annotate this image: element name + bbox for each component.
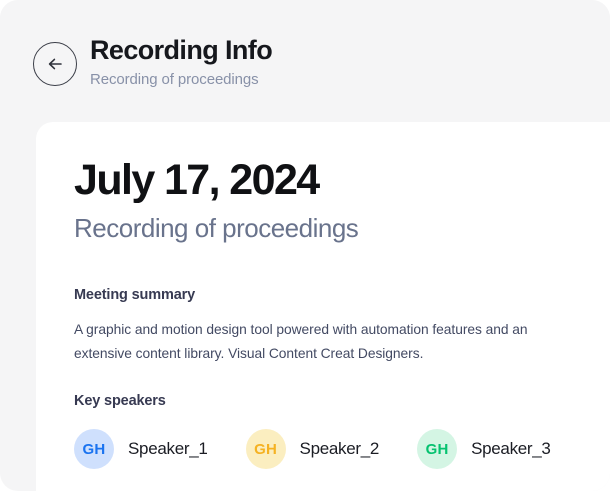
speaker-item[interactable]: GH Speaker_3 — [417, 429, 551, 469]
recording-date: July 17, 2024 — [74, 154, 584, 206]
header-text-group: Recording Info Recording of proceedings — [90, 33, 272, 90]
back-button[interactable] — [33, 42, 77, 86]
key-speakers-heading: Key speakers — [74, 391, 584, 411]
app-frame: Recording Info Recording of proceedings … — [0, 0, 610, 491]
speaker-name: Speaker_3 — [471, 438, 551, 460]
speaker-name: Speaker_2 — [300, 438, 380, 460]
arrow-left-icon — [45, 54, 65, 74]
card-content: July 17, 2024 Recording of proceedings M… — [36, 122, 610, 469]
meeting-summary-section: Meeting summary A graphic and motion des… — [74, 285, 584, 366]
speakers-list: GH Speaker_1 GH Speaker_2 GH Speaker_3 — [74, 429, 584, 469]
meeting-summary-heading: Meeting summary — [74, 285, 584, 305]
avatar: GH — [246, 429, 286, 469]
avatar: GH — [74, 429, 114, 469]
avatar: GH — [417, 429, 457, 469]
meeting-summary-text: A graphic and motion design tool powered… — [74, 318, 566, 366]
page-header: Recording Info Recording of proceedings — [0, 0, 610, 122]
speaker-item[interactable]: GH Speaker_1 — [74, 429, 208, 469]
recording-info-card: July 17, 2024 Recording of proceedings M… — [36, 122, 610, 491]
speaker-name: Speaker_1 — [128, 438, 208, 460]
page-subtitle: Recording of proceedings — [90, 70, 272, 90]
speaker-item[interactable]: GH Speaker_2 — [246, 429, 380, 469]
page-title: Recording Info — [90, 33, 272, 67]
recording-subtitle: Recording of proceedings — [74, 212, 584, 244]
key-speakers-section: Key speakers GH Speaker_1 GH Speaker_2 G… — [74, 391, 584, 469]
